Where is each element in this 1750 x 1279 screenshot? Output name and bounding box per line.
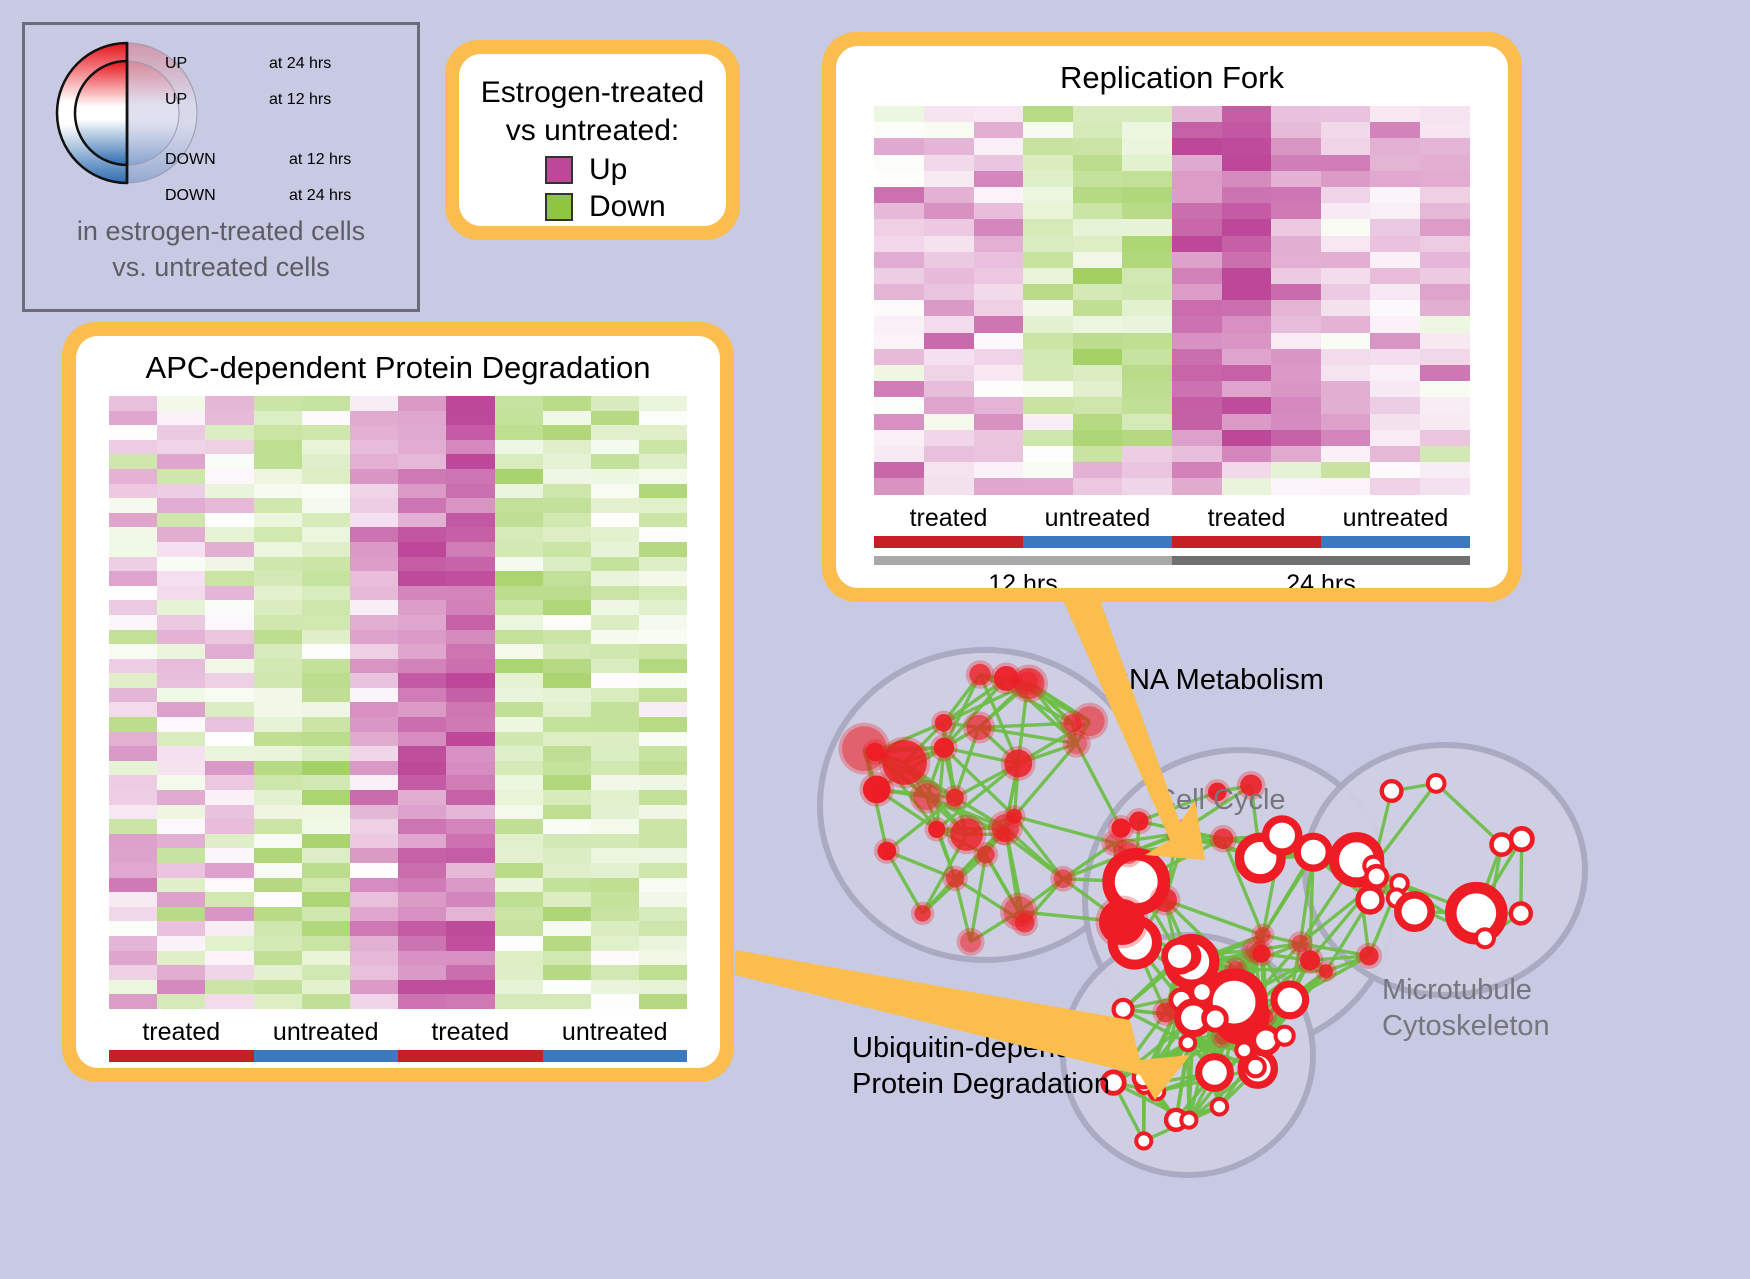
- heatmap-cell: [974, 414, 1024, 430]
- heatmap-cell: [1023, 300, 1073, 316]
- network-node: [1129, 811, 1148, 830]
- heatmap-cell: [1122, 446, 1172, 462]
- heatmap-cell: [446, 746, 494, 761]
- heatmap-cell: [350, 878, 398, 893]
- heatmap-cell: [1420, 478, 1470, 494]
- heatmap-cell: [302, 805, 350, 820]
- heatmap-cell: [157, 498, 205, 513]
- heatmap-cell: [1023, 187, 1073, 203]
- heatmap-cell: [302, 732, 350, 747]
- heatmap-cell: [495, 892, 543, 907]
- heatmap-cell: [157, 805, 205, 820]
- heatmap-cell: [109, 834, 157, 849]
- heatmap-cell: [254, 557, 302, 572]
- heatmap-cell: [495, 600, 543, 615]
- heatmap-cell: [446, 732, 494, 747]
- heatmap-cell: [495, 863, 543, 878]
- heatmap-cell: [398, 848, 446, 863]
- heatmap-cell: [398, 805, 446, 820]
- cond-label-0: treated: [109, 1018, 254, 1047]
- heatmap-cell: [639, 688, 687, 703]
- heatmap-cell: [205, 936, 253, 951]
- heatmap-cell: [543, 440, 591, 455]
- heatmap-cell: [254, 863, 302, 878]
- network-node: [1358, 888, 1382, 912]
- heatmap-cell: [1172, 462, 1222, 478]
- heatmap-cell: [302, 790, 350, 805]
- heatmap-cell: [254, 469, 302, 484]
- heatmap-cell: [1073, 236, 1123, 252]
- network-node: [1199, 1057, 1231, 1089]
- heatmap-cell: [495, 907, 543, 922]
- heatmap-cell: [109, 600, 157, 615]
- ubiquitin-line2: Protein Degradation: [852, 1066, 1112, 1102]
- network-node: [1319, 964, 1333, 978]
- condition-bar-untreated: [1023, 536, 1172, 548]
- heatmap-cell: [1271, 333, 1321, 349]
- heatmap-cell: [543, 907, 591, 922]
- heatmap-cell: [109, 498, 157, 513]
- heatmap-cell: [157, 907, 205, 922]
- heatmap-cell: [495, 542, 543, 557]
- heatmap-cell: [639, 863, 687, 878]
- heatmap-cell: [205, 761, 253, 776]
- heatmap-cell: [495, 936, 543, 951]
- network-node: [928, 821, 945, 838]
- heatmap-cell: [1271, 219, 1321, 235]
- heatmap-cell: [1420, 236, 1470, 252]
- up-down-legend-panel: Estrogen-treated vs untreated: Up Down: [445, 40, 740, 240]
- heatmap-cell: [1172, 268, 1222, 284]
- heatmap-cell: [302, 834, 350, 849]
- heatmap-cell: [446, 775, 494, 790]
- microtubule-line1: Microtubule: [1382, 972, 1550, 1008]
- heatmap-cell: [1073, 268, 1123, 284]
- heatmap-cell: [1420, 171, 1470, 187]
- heatmap-cell: [1420, 430, 1470, 446]
- heatmap-cell: [874, 203, 924, 219]
- heatmap-cell: [974, 333, 1024, 349]
- heatmap-cell: [1222, 268, 1272, 284]
- heatmap-cell: [109, 469, 157, 484]
- condition-bar-untreated: [254, 1050, 399, 1062]
- heatmap-cell: [543, 790, 591, 805]
- heatmap-cell: [1271, 397, 1321, 413]
- heatmap-cell: [350, 848, 398, 863]
- network-node: [1004, 750, 1032, 778]
- heatmap-cell: [398, 527, 446, 542]
- heatmap-cell: [974, 316, 1024, 332]
- heatmap-cell: [109, 805, 157, 820]
- heatmap-cell: [495, 557, 543, 572]
- heatmap-cell: [1122, 316, 1172, 332]
- heatmap-cell: [109, 396, 157, 411]
- heatmap-cell: [974, 478, 1024, 494]
- heatmap-cell: [302, 688, 350, 703]
- heatmap-cell: [543, 396, 591, 411]
- heatmap-cell: [639, 878, 687, 893]
- heatmap-cell: [591, 834, 639, 849]
- heatmap-cell: [1172, 478, 1222, 494]
- cond-label-1: untreated: [1023, 504, 1172, 533]
- apc-dependent-panel: APC-dependent Protein Degradation treate…: [62, 322, 734, 1082]
- heatmap-cell: [495, 980, 543, 995]
- heatmap-cell: [1023, 333, 1073, 349]
- heatmap-cell: [1420, 300, 1470, 316]
- heatmap-cell: [205, 702, 253, 717]
- heatmap-cell: [974, 430, 1024, 446]
- network-node: [1428, 775, 1445, 792]
- heatmap-cell: [1122, 414, 1172, 430]
- heatmap-cell: [109, 615, 157, 630]
- heatmap-cell: [924, 268, 974, 284]
- heatmap-cell: [302, 936, 350, 951]
- heatmap-cell: [874, 365, 924, 381]
- heatmap-cell: [205, 980, 253, 995]
- figure-canvas: UP at 24 hrs UP at 12 hrs DOWN at 12 hrs…: [0, 0, 1750, 1279]
- heatmap-cell: [302, 425, 350, 440]
- network-node: [1476, 929, 1494, 947]
- heatmap-cell: [1271, 155, 1321, 171]
- heatmap-cell: [350, 892, 398, 907]
- heatmap-cell: [591, 396, 639, 411]
- heatmap-cell: [109, 980, 157, 995]
- heatmap-cell: [350, 688, 398, 703]
- network-node: [969, 664, 990, 685]
- heatmap-cell: [157, 980, 205, 995]
- heatmap-cell: [302, 994, 350, 1009]
- heatmap-cell: [446, 527, 494, 542]
- heatmap-cell: [543, 980, 591, 995]
- network-node: [935, 714, 953, 732]
- heatmap-cell: [157, 951, 205, 966]
- heatmap-cell: [591, 805, 639, 820]
- heatmap-cell: [1172, 171, 1222, 187]
- heatmap-cell: [1222, 155, 1272, 171]
- heatmap-cell: [639, 848, 687, 863]
- heatmap-cell: [1122, 381, 1172, 397]
- heatmap-cell: [1321, 187, 1371, 203]
- heatmap-cell: [1370, 365, 1420, 381]
- heatmap-cell: [1023, 316, 1073, 332]
- heatmap-cell: [398, 965, 446, 980]
- heatmap-cell: [639, 746, 687, 761]
- heatmap-cell: [157, 994, 205, 1009]
- heatmap-cell: [639, 761, 687, 776]
- heatmap-cell: [398, 702, 446, 717]
- heatmap-cell: [874, 462, 924, 478]
- heatmap-cell: [205, 921, 253, 936]
- heatmap-cell: [302, 892, 350, 907]
- heatmap-cell: [254, 527, 302, 542]
- heatmap-cell: [109, 775, 157, 790]
- heatmap-cell: [1172, 155, 1222, 171]
- heatmap-cell: [1271, 381, 1321, 397]
- heatmap-cell: [109, 542, 157, 557]
- heatmap-cell: [446, 673, 494, 688]
- heatmap-cell: [205, 454, 253, 469]
- heatmap-cell: [974, 397, 1024, 413]
- heatmap-cell: [591, 717, 639, 732]
- heatmap-cell: [446, 790, 494, 805]
- heatmap-cell: [874, 171, 924, 187]
- heatmap-cell: [1023, 122, 1073, 138]
- heatmap-cell: [109, 440, 157, 455]
- heatmap-cell: [302, 746, 350, 761]
- heatmap-cell: [109, 951, 157, 966]
- heatmap-cell: [205, 411, 253, 426]
- heatmap-cell: [1420, 446, 1470, 462]
- heatmap-cell: [639, 965, 687, 980]
- heatmap-cell: [1321, 333, 1371, 349]
- heatmap-cell: [446, 907, 494, 922]
- heatmap-cell: [1023, 252, 1073, 268]
- heatmap-cell: [1172, 122, 1222, 138]
- network-node: [882, 740, 927, 785]
- heatmap-cell: [1370, 122, 1420, 138]
- heatmap-cell: [157, 425, 205, 440]
- heatmap-cell: [639, 513, 687, 528]
- network-node: [1180, 1036, 1195, 1051]
- heatmap-cell: [495, 790, 543, 805]
- heatmap-cell: [446, 965, 494, 980]
- heatmap-cell: [302, 907, 350, 922]
- heatmap-cell: [639, 644, 687, 659]
- heatmap-cell: [874, 381, 924, 397]
- heatmap-cell: [639, 454, 687, 469]
- cond-label-2: treated: [398, 1018, 543, 1047]
- heatmap-cell: [1370, 397, 1420, 413]
- heatmap-cell: [205, 892, 253, 907]
- heatmap-cell: [302, 571, 350, 586]
- heatmap-cell: [543, 834, 591, 849]
- heatmap-cell: [254, 484, 302, 499]
- network-node: [1274, 984, 1306, 1016]
- heatmap-cell: [974, 381, 1024, 397]
- heatmap-cell: [398, 557, 446, 572]
- heatmap-cell: [1271, 414, 1321, 430]
- heatmap-cell: [1370, 300, 1420, 316]
- heatmap-cell: [157, 673, 205, 688]
- network-node: [1054, 869, 1073, 888]
- updown-title-line2: vs untreated:: [459, 112, 726, 150]
- heatmap-cell: [495, 498, 543, 513]
- heatmap-cell: [109, 425, 157, 440]
- heatmap-cell: [254, 396, 302, 411]
- heatmap-cell: [205, 600, 253, 615]
- heatmap-cell: [157, 732, 205, 747]
- heatmap-cell: [157, 965, 205, 980]
- heatmap-cell: [1321, 219, 1371, 235]
- heatmap-cell: [495, 454, 543, 469]
- time-label-12: 12 hrs: [874, 570, 1172, 589]
- heatmap-cell: [205, 659, 253, 674]
- heatmap-cell: [398, 878, 446, 893]
- heatmap-cell: [1370, 219, 1420, 235]
- heatmap-cell: [924, 478, 974, 494]
- heatmap-cell: [446, 644, 494, 659]
- heatmap-cell: [254, 790, 302, 805]
- network-node: [1255, 927, 1271, 943]
- heatmap-cell: [350, 411, 398, 426]
- heatmap-cell: [543, 863, 591, 878]
- network-graph: [770, 600, 1750, 1279]
- heatmap-cell: [1073, 462, 1123, 478]
- heatmap-cell: [1073, 203, 1123, 219]
- heatmap-cell: [1222, 171, 1272, 187]
- heatmap-cell: [495, 440, 543, 455]
- heatmap-cell: [974, 187, 1024, 203]
- heatmap-cell: [398, 571, 446, 586]
- heatmap-cell: [1222, 187, 1272, 203]
- heatmap-cell: [109, 965, 157, 980]
- network-node: [1165, 941, 1195, 971]
- heatmap-cell: [1023, 236, 1073, 252]
- network-node: [914, 905, 931, 922]
- heatmap-cell: [1122, 171, 1172, 187]
- heatmap-cell: [254, 630, 302, 645]
- network-node: [1382, 781, 1402, 801]
- heatmap-cell: [924, 171, 974, 187]
- heatmap-cell: [157, 615, 205, 630]
- heatmap-cell: [109, 790, 157, 805]
- heatmap-cell: [446, 921, 494, 936]
- heatmap-cell: [1271, 268, 1321, 284]
- heatmap-cell: [1370, 414, 1420, 430]
- heatmap-cell: [543, 994, 591, 1009]
- heatmap-cell: [109, 761, 157, 776]
- legend-label-up: Up: [589, 153, 627, 187]
- network-node: [1276, 1027, 1294, 1045]
- heatmap-cell: [1321, 381, 1371, 397]
- heatmap-cell: [543, 965, 591, 980]
- heatmap-cell: [1321, 106, 1371, 122]
- heatmap-cell: [639, 600, 687, 615]
- heatmap-cell: [1122, 106, 1172, 122]
- heatmap-cell: [639, 936, 687, 951]
- heatmap-cell: [446, 411, 494, 426]
- heatmap-cell: [591, 761, 639, 776]
- heatmap-cell: [591, 848, 639, 863]
- heatmap-cell: [1073, 219, 1123, 235]
- heatmap-cell: [157, 630, 205, 645]
- cond-label-3: untreated: [1321, 504, 1470, 533]
- heatmap-cell: [591, 892, 639, 907]
- heatmap-cell: [254, 702, 302, 717]
- heatmap-cell: [1023, 365, 1073, 381]
- heatmap-cell: [874, 187, 924, 203]
- apc-condition-bars: [109, 1050, 687, 1062]
- heatmap-cell: [254, 513, 302, 528]
- heatmap-cell: [543, 644, 591, 659]
- heatmap-cell: [1073, 284, 1123, 300]
- heatmap-cell: [157, 790, 205, 805]
- replication-time-bars: [874, 556, 1470, 565]
- network-node: [1511, 828, 1532, 849]
- heatmap-cell: [639, 557, 687, 572]
- heatmap-cell: [157, 557, 205, 572]
- heatmap-cell: [591, 790, 639, 805]
- heatmap-cell: [446, 761, 494, 776]
- heatmap-cell: [350, 542, 398, 557]
- replication-time-labels: 12 hrs 24 hrs: [874, 570, 1470, 589]
- heatmap-cell: [157, 411, 205, 426]
- heatmap-cell: [974, 300, 1024, 316]
- heatmap-cell: [639, 907, 687, 922]
- heatmap-cell: [874, 333, 924, 349]
- heatmap-cell: [543, 688, 591, 703]
- heatmap-cell: [1023, 219, 1073, 235]
- network-node: [1003, 896, 1034, 927]
- heatmap-cell: [1172, 219, 1222, 235]
- heatmap-cell: [543, 571, 591, 586]
- heatmap-cell: [1370, 106, 1420, 122]
- heatmap-cell: [398, 688, 446, 703]
- condition-bar-treated: [874, 536, 1023, 548]
- network-node: [1213, 829, 1234, 850]
- heatmap-cell: [591, 965, 639, 980]
- heatmap-cell: [874, 138, 924, 154]
- heatmap-cell: [1073, 187, 1123, 203]
- heatmap-cell: [446, 848, 494, 863]
- heatmap-cell: [1172, 397, 1222, 413]
- heatmap-cell: [302, 527, 350, 542]
- heatmap-cell: [1023, 138, 1073, 154]
- heatmap-cell: [1370, 349, 1420, 365]
- heatmap-cell: [157, 819, 205, 834]
- heatmap-cell: [1271, 236, 1321, 252]
- heatmap-cell: [974, 349, 1024, 365]
- heatmap-cell: [639, 805, 687, 820]
- heatmap-cell: [1370, 252, 1420, 268]
- heatmap-cell: [398, 936, 446, 951]
- heatmap-cell: [1073, 349, 1123, 365]
- heatmap-cell: [446, 557, 494, 572]
- heatmap-cell: [1222, 430, 1272, 446]
- heatmap-cell: [109, 863, 157, 878]
- heatmap-cell: [1420, 106, 1470, 122]
- heatmap-cell: [974, 219, 1024, 235]
- heatmap-cell: [446, 454, 494, 469]
- network-node: [1246, 1058, 1264, 1076]
- heatmap-cell: [639, 440, 687, 455]
- heatmap-cell: [591, 513, 639, 528]
- heatmap-cell: [495, 746, 543, 761]
- heatmap-cell: [205, 484, 253, 499]
- heatmap-cell: [205, 513, 253, 528]
- heatmap-cell: [157, 440, 205, 455]
- heatmap-cell: [109, 586, 157, 601]
- heatmap-cell: [1420, 203, 1470, 219]
- heatmap-cell: [446, 498, 494, 513]
- heatmap-cell: [205, 571, 253, 586]
- heatmap-cell: [254, 980, 302, 995]
- heatmap-cell: [1271, 171, 1321, 187]
- heatmap-cell: [254, 921, 302, 936]
- cluster-label-dna-metabolism: DNA Metabolism: [1108, 662, 1324, 698]
- heatmap-cell: [1271, 106, 1321, 122]
- heatmap-cell: [1370, 203, 1420, 219]
- heatmap-cell: [1321, 365, 1371, 381]
- heatmap-cell: [1172, 106, 1222, 122]
- heatmap-cell: [350, 469, 398, 484]
- heatmap-cell: [350, 732, 398, 747]
- heatmap-cell: [1073, 414, 1123, 430]
- gene-network-diagram: DNA Metabolism Cell Cycle Microtubule Cy…: [770, 600, 1750, 1279]
- heatmap-cell: [254, 907, 302, 922]
- heatmap-cell: [398, 615, 446, 630]
- heatmap-cell: [157, 863, 205, 878]
